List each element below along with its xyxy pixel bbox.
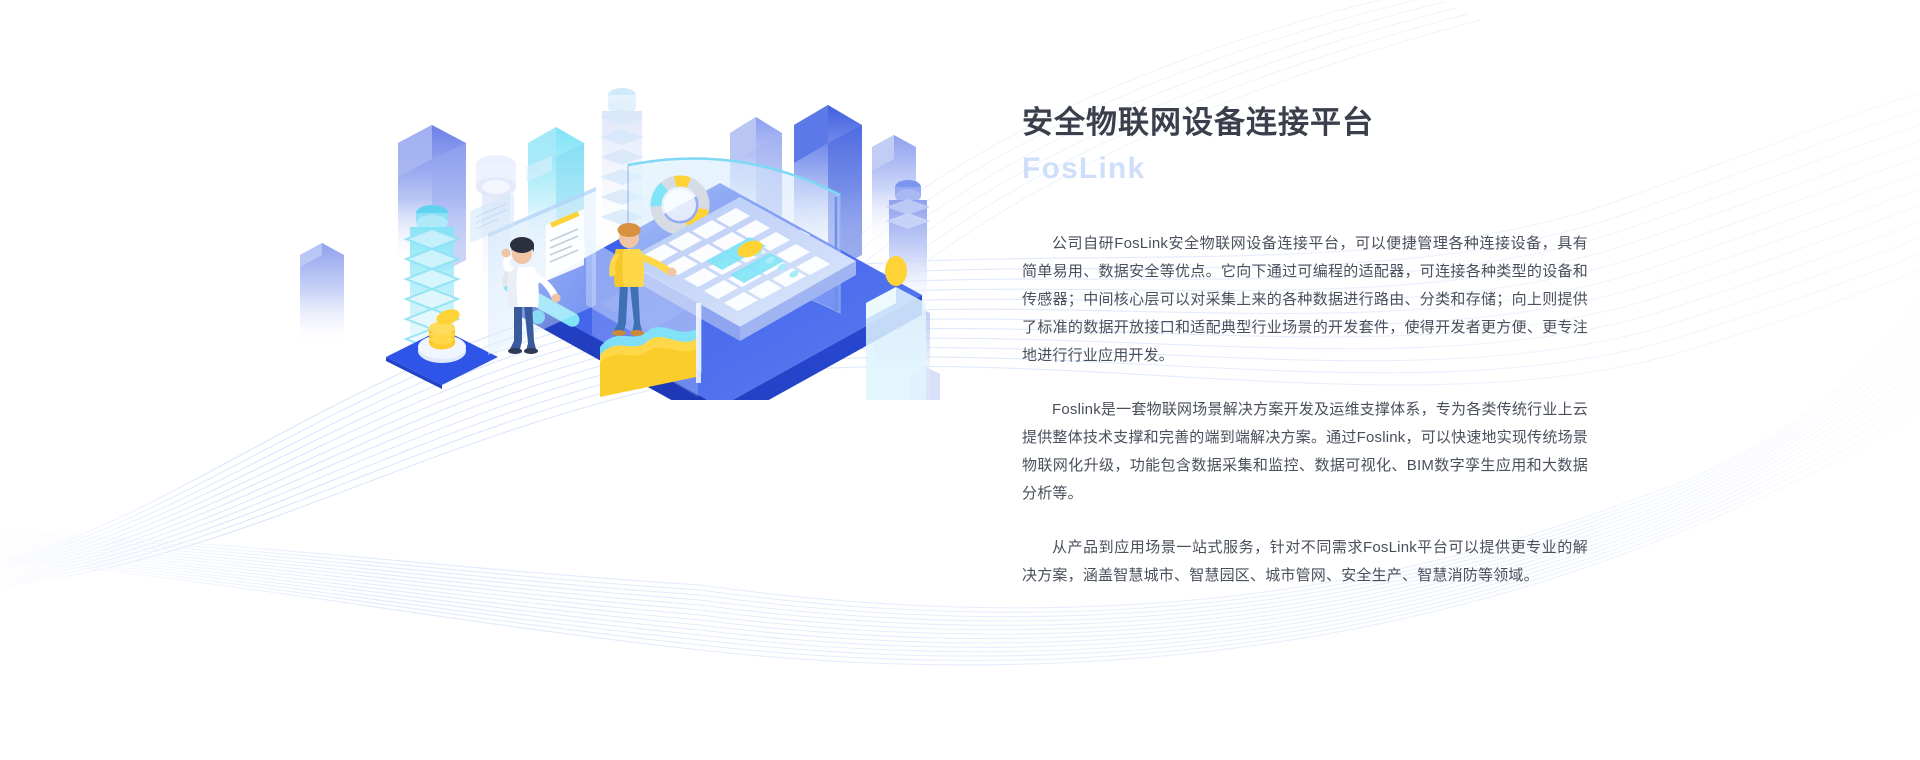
paragraph-1: 公司自研FosLink安全物联网设备连接平台，可以便捷管理各种连接设备，具有简单…: [1022, 230, 1588, 370]
product-name-subtitle: FosLink: [1022, 149, 1588, 188]
hero-text-column: 安全物联网设备连接平台 FosLink 公司自研FosLink安全物联网设备连接…: [1022, 104, 1588, 590]
coin-pedestal: [386, 307, 498, 389]
page-title: 安全物联网设备连接平台: [1022, 104, 1588, 143]
paragraph-3: 从产品到应用场景一站式服务，针对不同需求FosLink平台可以提供更专业的解决方…: [1022, 534, 1588, 590]
description-paragraphs: 公司自研FosLink安全物联网设备连接平台，可以便捷管理各种连接设备，具有简单…: [1022, 230, 1588, 590]
building-far-left: [300, 243, 344, 345]
hero-section: 安全物联网设备连接平台 FosLink 公司自研FosLink安全物联网设备连接…: [0, 0, 1920, 760]
background-wave-lines: [0, 0, 1920, 760]
iot-platform-illustration: [300, 55, 940, 400]
paragraph-2: Foslink是一套物联网场景解决方案开发及运维支撑体系，专为各类传统行业上云提…: [1022, 396, 1588, 508]
